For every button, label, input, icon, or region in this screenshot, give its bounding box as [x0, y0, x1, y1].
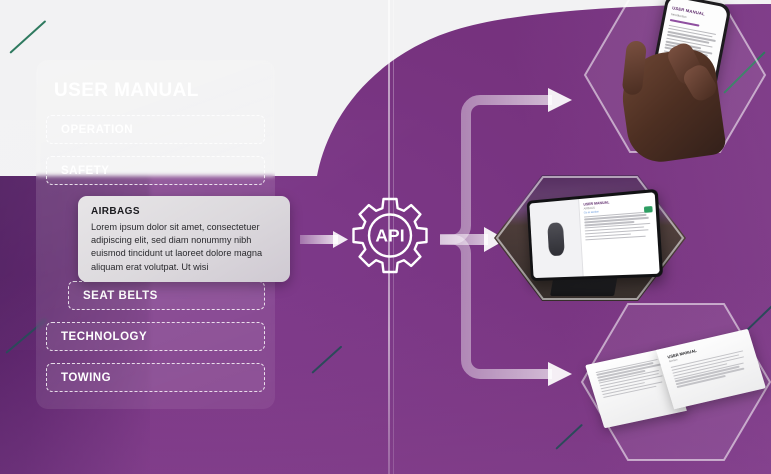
- menu-item-label: SEAT BELTS: [83, 290, 158, 302]
- media-printed-manual[interactable]: USER MANUAL Section: [578, 300, 771, 465]
- dashboard-display[interactable]: USER MANUAL AIRBAGS Go to section: [527, 189, 664, 281]
- menu-item-safety[interactable]: SAFETY: [46, 156, 265, 185]
- api-label: API: [375, 226, 404, 246]
- car-icon: [547, 222, 565, 256]
- menu-item-operation[interactable]: OPERATION: [46, 115, 265, 144]
- airbags-detail-card[interactable]: AIRBAGS Lorem ipsum dolor sit amet, cons…: [78, 196, 290, 282]
- menu-item-seat-belts[interactable]: SEAT BELTS: [68, 281, 265, 310]
- menu-item-label: TECHNOLOGY: [61, 331, 147, 343]
- menu-item-towing[interactable]: TOWING: [46, 363, 265, 392]
- airbags-card-title: AIRBAGS: [91, 206, 278, 217]
- dashboard-car-panel: [529, 199, 583, 278]
- menu-item-label: TOWING: [61, 372, 111, 384]
- media-phone[interactable]: USER MANUAL Introduction: [580, 0, 770, 160]
- status-badge: [644, 206, 653, 213]
- media-dashboard[interactable]: USER MANUAL AIRBAGS Go to section: [494, 175, 686, 301]
- infographic-canvas: USER MANUAL OPERATION SAFETY SEAT BELTS …: [0, 0, 771, 474]
- menu-item-label: SAFETY: [61, 165, 109, 177]
- api-hub[interactable]: API: [345, 195, 435, 285]
- menu-item-technology[interactable]: TECHNOLOGY: [46, 322, 265, 351]
- page-title: USER MANUAL: [54, 80, 199, 102]
- dashboard-manual-panel: USER MANUAL AIRBAGS Go to section: [579, 192, 659, 276]
- hand: [617, 46, 727, 166]
- airbags-card-body: Lorem ipsum dolor sit amet, consectetuer…: [91, 221, 278, 274]
- menu-item-label: OPERATION: [61, 124, 133, 136]
- gear-icon: API: [345, 195, 435, 285]
